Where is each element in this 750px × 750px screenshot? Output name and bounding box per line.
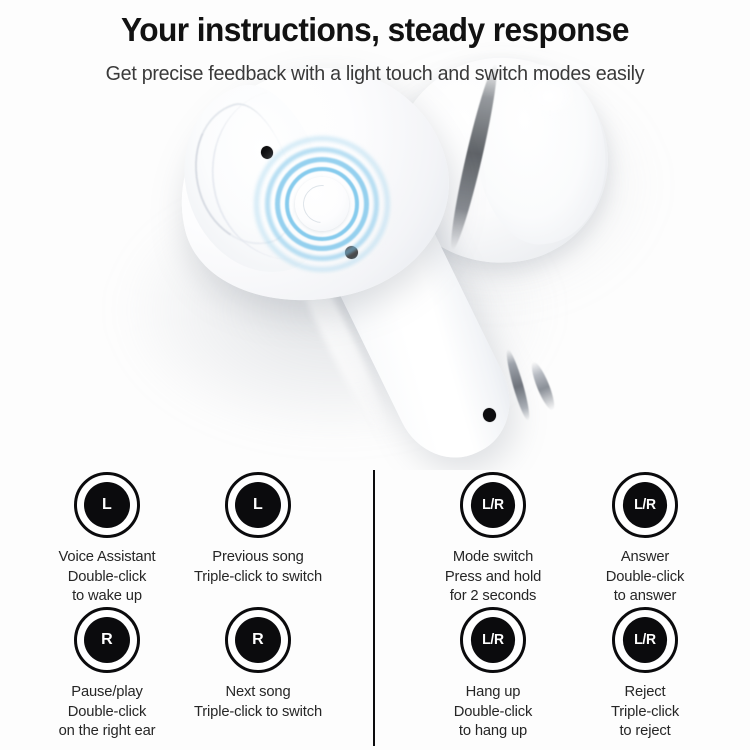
caption-line: Triple-click to switch: [171, 567, 346, 587]
touch-ripple-icon: [258, 140, 386, 268]
badge-right-earbud: R: [225, 607, 291, 673]
instruction-caption: Reject Triple-click to reject: [558, 682, 733, 741]
touch-button-arc: [295, 177, 349, 231]
product-photo-stage: [0, 0, 750, 470]
caption-line: Triple-click: [558, 702, 733, 722]
instruction-caption: Next song Triple-click to switch: [171, 682, 346, 721]
badge-label: L/R: [623, 617, 667, 663]
instruction-caption: Previous song Triple-click to switch: [171, 547, 346, 586]
badge-label: L/R: [623, 482, 667, 528]
badge-both-earbuds: L/R: [612, 607, 678, 673]
instruction-previous-song[interactable]: L Previous song Triple-click to switch: [168, 472, 348, 586]
instruction-reject[interactable]: L/R Reject Triple-click to reject: [555, 607, 735, 741]
badge-left-earbud: L: [74, 472, 140, 538]
caption-line: to wake up: [20, 586, 195, 606]
badge-both-earbuds: L/R: [612, 472, 678, 538]
background-earbud-highlight: [520, 72, 580, 120]
badge-right-earbud: R: [74, 607, 140, 673]
badge-label: R: [84, 617, 130, 663]
caption-line: Reject: [558, 682, 733, 702]
badge-both-earbuds: L/R: [460, 472, 526, 538]
instruction-grid: L Voice Assistant Double-click to wake u…: [0, 464, 750, 750]
caption-line: Triple-click to switch: [171, 702, 346, 722]
badge-label: L: [84, 482, 130, 528]
badge-label: L: [235, 482, 281, 528]
caption-line: Previous song: [171, 547, 346, 567]
instruction-next-song[interactable]: R Next song Triple-click to switch: [168, 607, 348, 721]
badge-label: L/R: [471, 617, 515, 663]
caption-line: on the right ear: [20, 721, 195, 741]
badge-label: L/R: [471, 482, 515, 528]
caption-line: Answer: [558, 547, 733, 567]
product-infographic-page: Your instructions, steady response Get p…: [0, 0, 750, 750]
caption-line: to answer: [558, 586, 733, 606]
badge-left-earbud: L: [225, 472, 291, 538]
caption-line: Next song: [171, 682, 346, 702]
caption-line: to reject: [558, 721, 733, 741]
instruction-answer[interactable]: L/R Answer Double-click to answer: [555, 472, 735, 606]
badge-both-earbuds: L/R: [460, 607, 526, 673]
touch-control-button[interactable]: [295, 177, 349, 231]
caption-line: Double-click: [558, 567, 733, 587]
badge-label: R: [235, 617, 281, 663]
instruction-caption: Answer Double-click to answer: [558, 547, 733, 606]
